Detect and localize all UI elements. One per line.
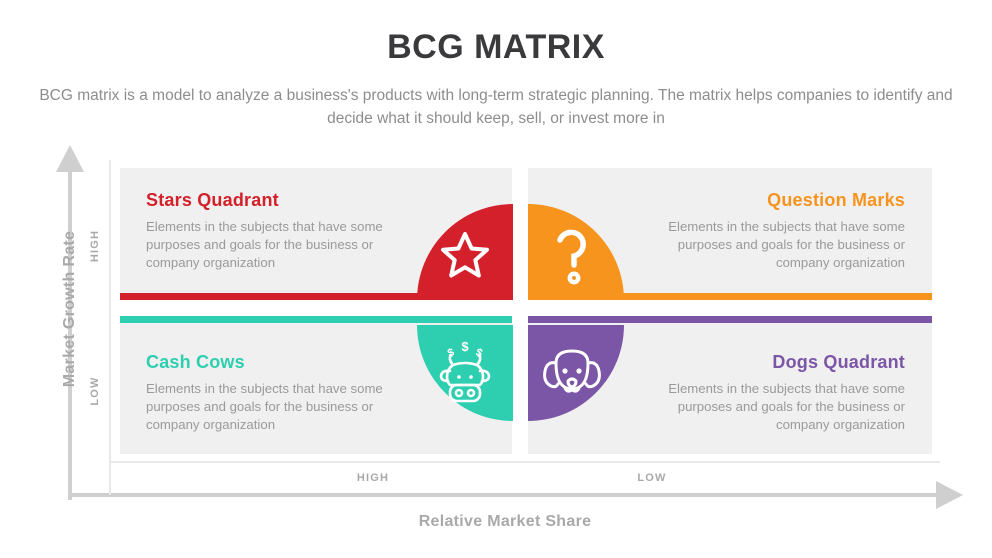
y-axis-title: Market Growth Rate (61, 179, 79, 439)
bcg-matrix-infographic: BCG MATRIX BCG matrix is a model to anal… (0, 0, 992, 558)
wedge-stars[interactable] (417, 204, 513, 300)
quadrant-description-dogs: Elements in the subjects that have some … (655, 380, 905, 434)
divider-bar-dogs (528, 316, 932, 323)
quadrant-title-question-marks: Question Marks (655, 190, 905, 211)
x-axis-tick-low: LOW (592, 472, 712, 484)
quadrant-title-cash-cows: Cash Cows (146, 352, 396, 373)
quadrant-description-question-marks: Elements in the subjects that have some … (655, 218, 905, 272)
divider-bar-cash-cows (120, 316, 512, 323)
svg-text:$: $ (461, 339, 469, 354)
y-axis-tick-high: HIGH (89, 211, 101, 281)
wedge-cash-cows[interactable]: $ $ $ (417, 325, 513, 421)
y-axis-tick-low: LOW (89, 356, 101, 426)
quadrant-text-question-marks: Question Marks Elements in the subjects … (655, 190, 905, 272)
quadrant-description-stars: Elements in the subjects that have some … (146, 218, 396, 272)
wedge-dogs[interactable] (528, 325, 624, 421)
page-subtitle: BCG matrix is a model to analyze a busin… (36, 84, 956, 130)
quadrant-description-cash-cows: Elements in the subjects that have some … (146, 380, 396, 434)
quadrant-text-dogs: Dogs Quadrant Elements in the subjects t… (655, 352, 905, 434)
page-title: BCG MATRIX (0, 28, 992, 67)
quadrant-title-dogs: Dogs Quadrant (655, 352, 905, 373)
wedge-question-marks[interactable] (528, 204, 624, 300)
x-axis-title: Relative Market Share (110, 513, 900, 531)
quadrant-text-stars: Stars Quadrant Elements in the subjects … (146, 190, 396, 272)
quadrant-text-cash-cows: Cash Cows Elements in the subjects that … (146, 352, 396, 434)
x-axis-tick-high: HIGH (313, 472, 433, 484)
quadrant-title-stars: Stars Quadrant (146, 190, 396, 211)
